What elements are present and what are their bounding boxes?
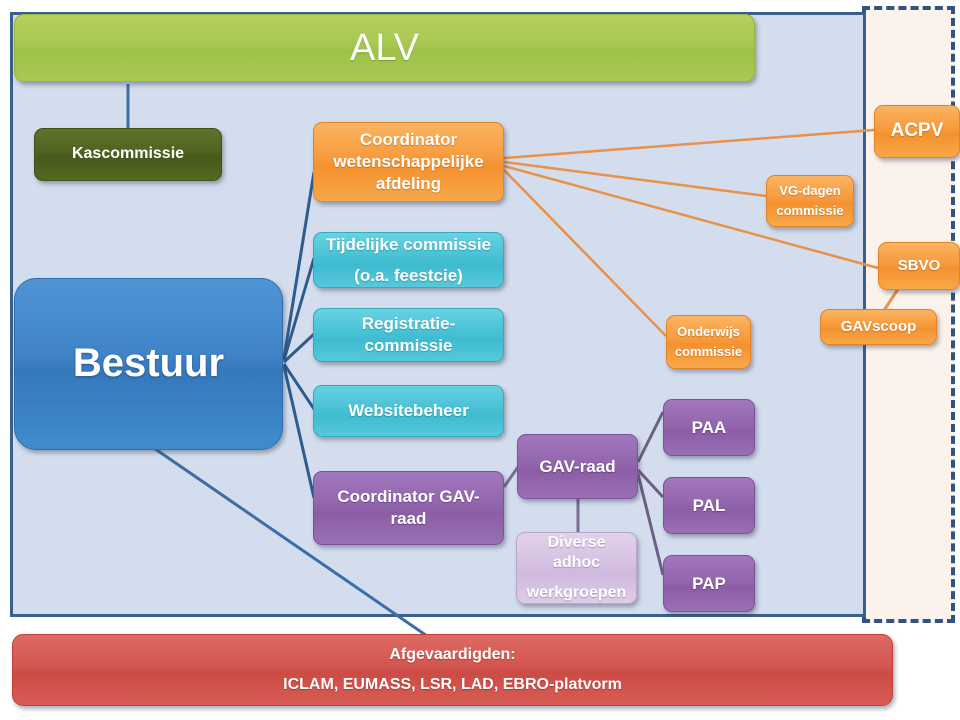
node-onderwijs-commissie-label-2: commissie [673,344,744,361]
node-tijdelijke-commissie-label-2: (o.a. feestcie) [320,265,497,287]
node-acpv-label: ACPV [881,119,953,143]
node-bestuur[interactable]: Bestuur [14,278,283,450]
node-afgevaardigden-label-1: Afgevaardigden: [19,645,886,665]
node-diverse-adhoc-werkgroepen[interactable]: Diverse adhoc werkgroepen [516,532,637,604]
node-onderwijs-commissie-label-1: Onderwijs [673,324,744,341]
node-tijdelijke-commissie[interactable]: Tijdelijke commissie (o.a. feestcie) [313,232,504,288]
node-coordinator-gav-raad-label: Coordinator GAV-raad [320,486,497,530]
node-coordinator-wetenschappelijke-afdeling-label: Coordinator wetenschappelijke afdeling [320,129,497,194]
node-gavscoop[interactable]: GAVscoop [820,309,937,345]
node-gavscoop-label: GAVscoop [827,317,930,336]
node-registratie-commissie-label: Registratie-commissie [320,313,497,357]
node-websitebeheer-label: Websitebeheer [320,400,497,422]
node-bestuur-label: Bestuur [21,338,276,389]
node-acpv[interactable]: ACPV [874,105,960,158]
node-pal[interactable]: PAL [663,477,755,534]
node-sbvo-label: SBVO [885,256,953,275]
node-pap-label: PAP [670,573,748,595]
node-alv-label: ALV [21,24,748,73]
node-pap[interactable]: PAP [663,555,755,612]
node-sbvo[interactable]: SBVO [878,242,960,290]
node-diverse-adhoc-werkgroepen-label-1: Diverse adhoc [523,533,630,574]
node-diverse-adhoc-werkgroepen-label-2: werkgroepen [523,583,630,603]
node-pal-label: PAL [670,495,748,517]
node-vg-dagen-commissie-label-1: VG-dagen [773,183,847,200]
node-kascommissie-label: Kascommissie [41,144,215,164]
node-websitebeheer[interactable]: Websitebeheer [313,385,504,437]
org-chart-diagram: ALV Kascommissie Bestuur Coordinator wet… [0,0,960,720]
node-gav-raad-label: GAV-raad [524,456,631,478]
node-onderwijs-commissie[interactable]: Onderwijs commissie [666,315,751,369]
node-coordinator-wetenschappelijke-afdeling[interactable]: Coordinator wetenschappelijke afdeling [313,122,504,202]
node-afgevaardigden-label-2: ICLAM, EUMASS, LSR, LAD, EBRO-platvorm [19,675,886,695]
node-registratie-commissie[interactable]: Registratie-commissie [313,308,504,362]
node-alv[interactable]: ALV [14,14,755,82]
node-coordinator-gav-raad[interactable]: Coordinator GAV-raad [313,471,504,545]
node-paa-label: PAA [670,417,748,439]
node-paa[interactable]: PAA [663,399,755,456]
node-tijdelijke-commissie-label-1: Tijdelijke commissie [320,234,497,256]
node-kascommissie[interactable]: Kascommissie [34,128,222,181]
node-vg-dagen-commissie[interactable]: VG-dagen commissie [766,175,854,227]
node-gav-raad[interactable]: GAV-raad [517,434,638,499]
node-afgevaardigden[interactable]: Afgevaardigden: ICLAM, EUMASS, LSR, LAD,… [12,634,893,706]
node-vg-dagen-commissie-label-2: commissie [773,203,847,220]
